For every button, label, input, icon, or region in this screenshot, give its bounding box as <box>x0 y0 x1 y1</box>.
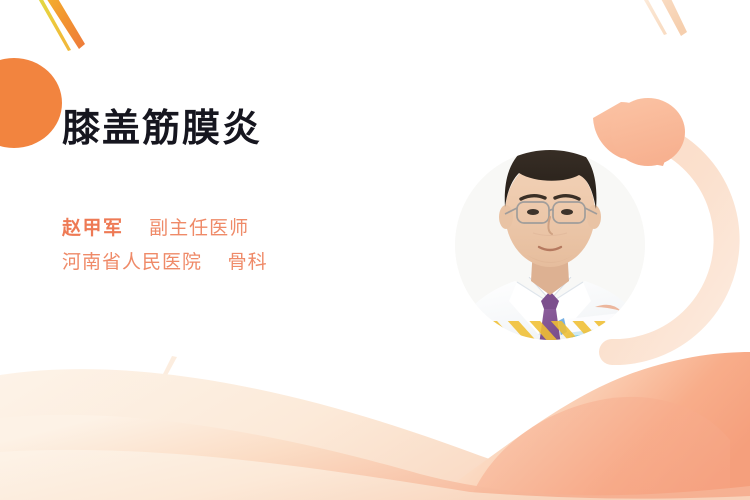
page-title: 膝盖筋膜炎 <box>62 106 442 154</box>
wave-band-near <box>0 415 750 500</box>
diagonal-stroke-faint <box>155 356 177 392</box>
diagonal-stroke-yellow <box>32 0 71 51</box>
diagonal-stroke-peach-thin <box>636 0 667 35</box>
doctor-intro-card: 膝盖筋膜炎 赵甲军 副主任医师 河南省人民医院 骨科 <box>0 0 750 500</box>
wave-band-base <box>0 450 750 500</box>
doctor-hospital: 河南省人民医院 <box>62 252 202 273</box>
doctor-credentials: 赵甲军 副主任医师 河南省人民医院 骨科 <box>62 212 442 280</box>
wave-band-far <box>0 369 750 500</box>
credential-line-name-rank: 赵甲军 副主任医师 <box>62 212 442 246</box>
doctor-portrait <box>455 95 645 373</box>
text-block: 膝盖筋膜炎 赵甲军 副主任医师 河南省人民医院 骨科 <box>62 106 442 280</box>
wave-blob-right <box>470 397 730 500</box>
diagonal-stripes-overlay <box>455 321 645 373</box>
doctor-rank: 副主任医师 <box>149 218 249 239</box>
doctor-name: 赵甲军 <box>62 218 124 239</box>
orange-circle-decor <box>0 58 62 148</box>
diagonal-stroke-orange <box>37 0 85 49</box>
wave-band-right <box>430 352 750 500</box>
portrait-illustration <box>455 95 645 373</box>
credential-line-hospital-dept: 河南省人民医院 骨科 <box>62 246 442 280</box>
diagonal-stroke-peach <box>652 0 687 36</box>
doctor-department: 骨科 <box>228 252 268 273</box>
